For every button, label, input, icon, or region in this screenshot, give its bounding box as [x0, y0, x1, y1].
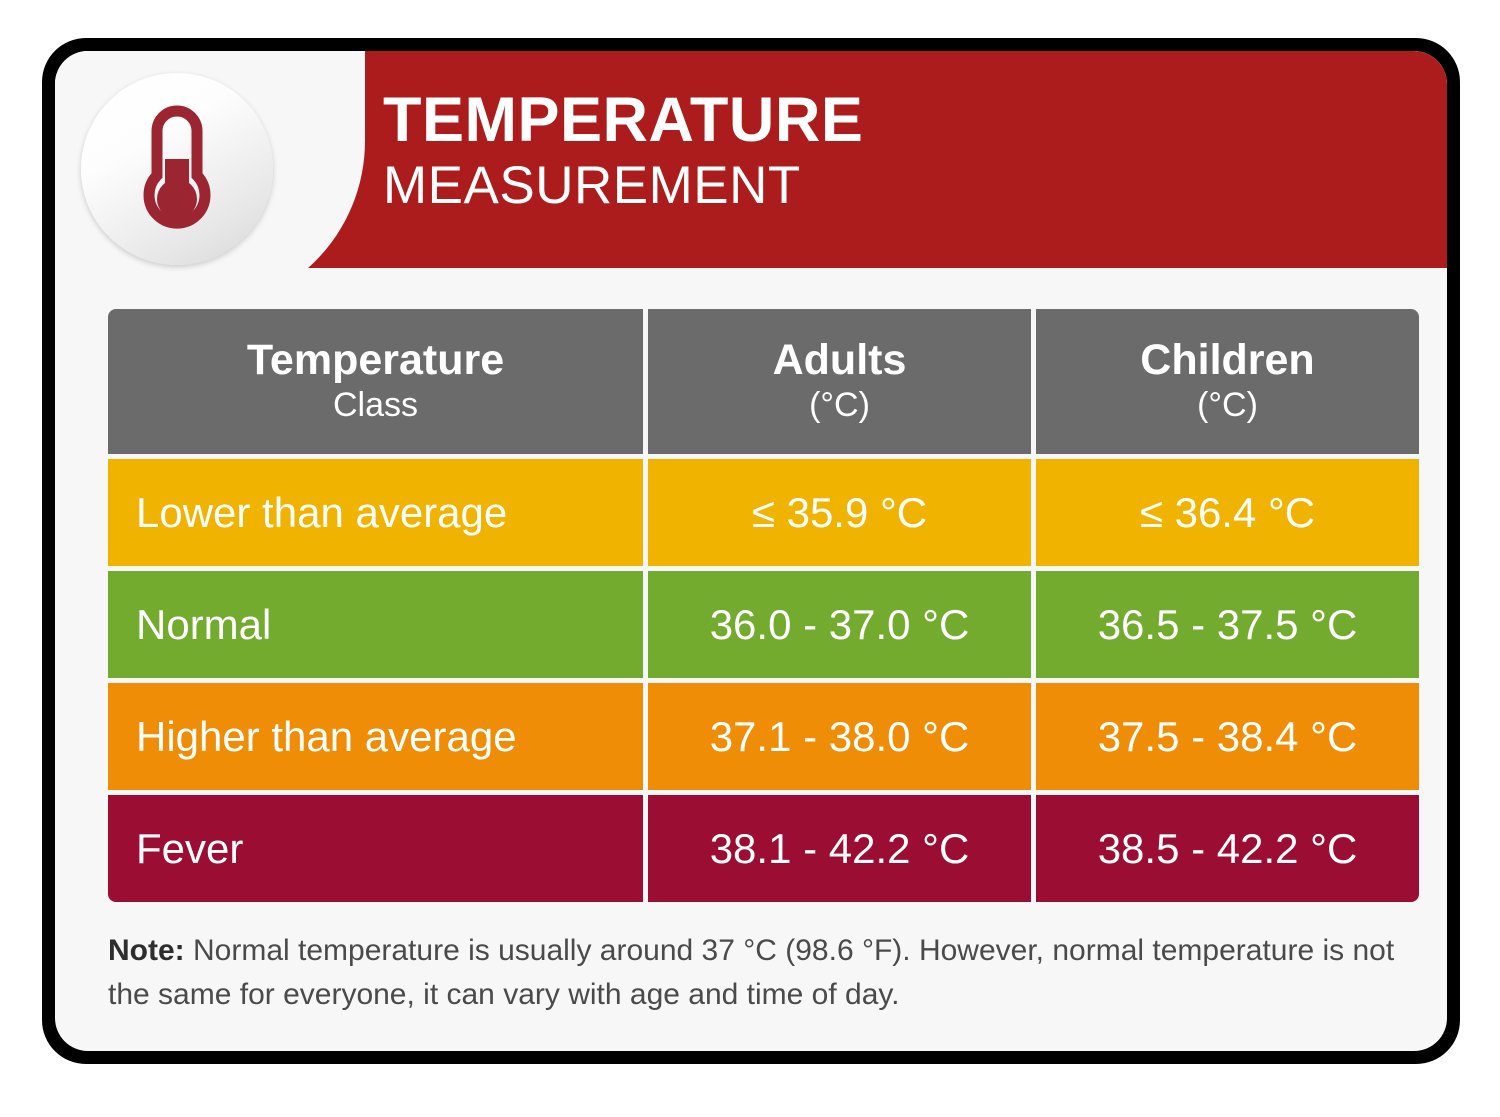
table-row: Normal 36.0 - 37.0 °C 36.5 - 37.5 °C	[108, 571, 1419, 678]
column-header-class-title: Temperature	[247, 338, 504, 383]
table-row: Fever 38.1 - 42.2 °C 38.5 - 42.2 °C	[108, 795, 1419, 902]
note-label: Note:	[108, 934, 185, 967]
thermometer-icon	[129, 103, 225, 235]
table-header-row: Temperature Class Adults (°C) Children (…	[108, 309, 1419, 454]
table-row: Higher than average 37.1 - 38.0 °C 37.5 …	[108, 683, 1419, 790]
cell-adults-normal: 36.0 - 37.0 °C	[648, 571, 1031, 678]
cell-children-lower: ≤ 36.4 °C	[1036, 459, 1419, 566]
infographic-card: TEMPERATURE MEASUREMENT	[0, 0, 1500, 1117]
column-header-adults: Adults (°C)	[648, 309, 1031, 454]
column-header-adults-unit: (°C)	[809, 386, 870, 425]
column-header-class-unit: Class	[333, 386, 418, 425]
column-header-class: Temperature Class	[108, 309, 643, 454]
column-header-children-unit: (°C)	[1197, 386, 1258, 425]
temperature-table: Temperature Class Adults (°C) Children (…	[108, 309, 1419, 902]
header-title-group: TEMPERATURE MEASUREMENT	[383, 89, 863, 212]
cell-children-normal: 36.5 - 37.5 °C	[1036, 571, 1419, 678]
cell-adults-fever: 38.1 - 42.2 °C	[648, 795, 1031, 902]
page-subtitle: MEASUREMENT	[383, 159, 863, 212]
cell-adults-lower: ≤ 35.9 °C	[648, 459, 1031, 566]
column-header-children-title: Children	[1140, 338, 1314, 383]
thermometer-badge	[81, 73, 273, 265]
cell-class-lower: Lower than average	[108, 459, 643, 566]
cell-class-fever: Fever	[108, 795, 643, 902]
cell-class-normal: Normal	[108, 571, 643, 678]
column-header-children: Children (°C)	[1036, 309, 1419, 454]
table-row: Lower than average ≤ 35.9 °C ≤ 36.4 °C	[108, 459, 1419, 566]
cell-adults-higher: 37.1 - 38.0 °C	[648, 683, 1031, 790]
card-outer-border: TEMPERATURE MEASUREMENT	[42, 38, 1460, 1064]
cell-class-higher: Higher than average	[108, 683, 643, 790]
note-body: Normal temperature is usually around 37 …	[108, 934, 1394, 1011]
page-title: TEMPERATURE	[383, 89, 863, 152]
cell-children-higher: 37.5 - 38.4 °C	[1036, 683, 1419, 790]
cell-children-fever: 38.5 - 42.2 °C	[1036, 795, 1419, 902]
note-text: Note: Normal temperature is usually arou…	[108, 929, 1428, 1016]
column-header-adults-title: Adults	[773, 338, 907, 383]
card-inner-surface: TEMPERATURE MEASUREMENT	[55, 51, 1447, 1051]
